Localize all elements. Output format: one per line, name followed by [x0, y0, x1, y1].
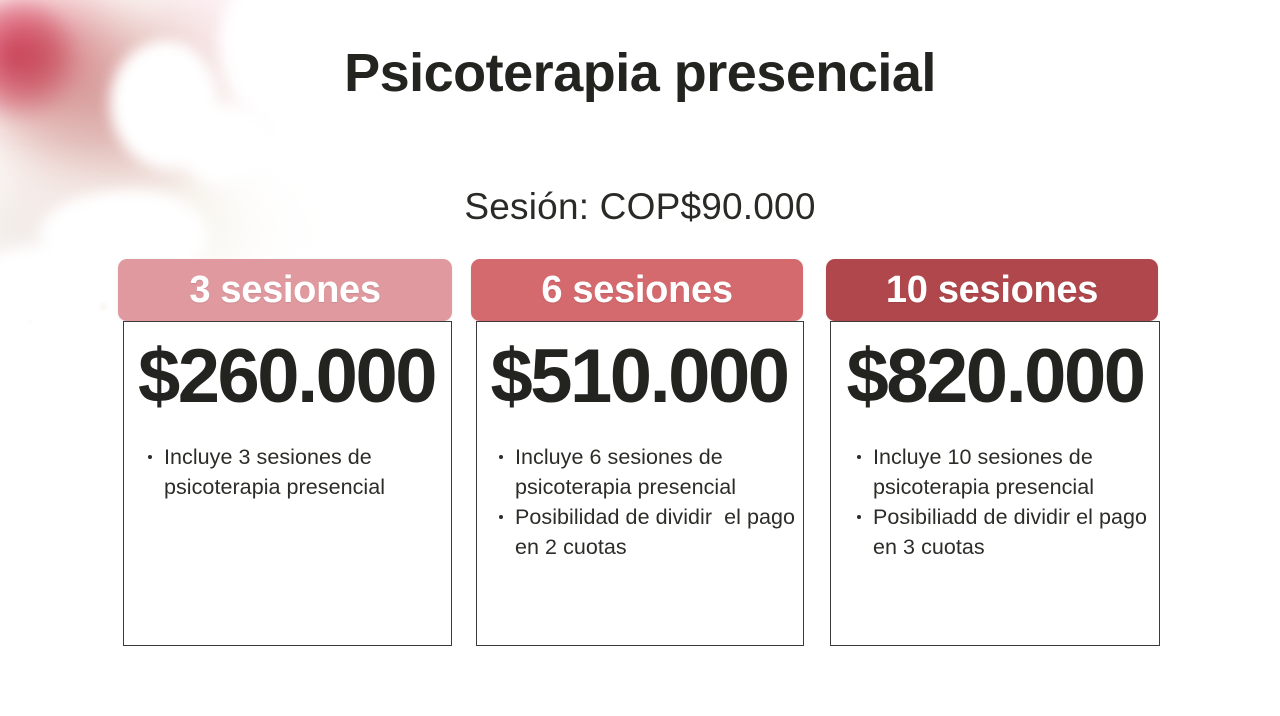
pricing-card-body: $820.000 Incluye 10 sesiones de psicoter…: [830, 321, 1160, 646]
pricing-card-header-label: 6 sesiones: [541, 269, 732, 312]
pricing-card-3-sesiones[interactable]: 3 sesiones $260.000 Incluye 3 sesiones d…: [118, 259, 452, 646]
list-item: Incluye 10 sesiones de psicoterapia pres…: [855, 442, 1159, 502]
list-item: Incluye 3 sesiones de psicoterapia prese…: [146, 442, 447, 502]
slide-canvas: Psicoterapia presencial Sesión: COP$90.0…: [0, 0, 1280, 716]
pricing-card-10-sesiones[interactable]: 10 sesiones $820.000 Incluye 10 sesiones…: [826, 259, 1158, 646]
list-item: Incluye 6 sesiones de psicoterapia prese…: [497, 442, 799, 502]
list-item: Posibiliadd de dividir el pago en 3 cuot…: [855, 502, 1159, 562]
pricing-card-body: $260.000 Incluye 3 sesiones de psicotera…: [123, 321, 452, 646]
splash-speck-1: [100, 302, 107, 311]
splash-blob-mauve: [0, 0, 300, 270]
pricing-card-body: $510.000 Incluye 6 sesiones de psicotera…: [476, 321, 804, 646]
pricing-card-feature-list: Incluye 3 sesiones de psicoterapia prese…: [124, 442, 451, 502]
session-price-subtitle: Sesión: COP$90.000: [0, 186, 1280, 228]
pricing-card-header: 6 sesiones: [471, 259, 803, 321]
page-title: Psicoterapia presencial: [0, 42, 1280, 104]
pricing-card-header-label: 10 sesiones: [886, 269, 1098, 312]
pricing-card-header-label: 3 sesiones: [189, 269, 380, 312]
pricing-card-price: $510.000: [475, 338, 803, 416]
splash-speck-3: [28, 320, 32, 324]
pricing-card-header: 3 sesiones: [118, 259, 452, 321]
pricing-card-price: $820.000: [831, 338, 1159, 416]
list-item: Posibilidad de dividir el pago en 2 cuot…: [497, 502, 799, 562]
pricing-card-feature-list: Incluye 10 sesiones de psicoterapia pres…: [831, 442, 1159, 562]
pricing-card-6-sesiones[interactable]: 6 sesiones $510.000 Incluye 6 sesiones d…: [471, 259, 803, 646]
splash-highlight-3: [180, 105, 270, 185]
pricing-card-header: 10 sesiones: [826, 259, 1158, 321]
pricing-card-price: $260.000: [122, 338, 451, 416]
pricing-card-feature-list: Incluye 6 sesiones de psicoterapia prese…: [477, 442, 803, 562]
